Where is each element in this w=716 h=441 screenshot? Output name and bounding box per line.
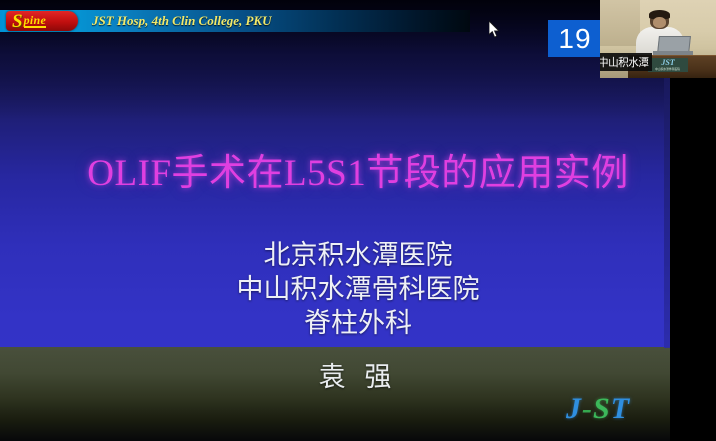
jst-logo: J-ST (566, 392, 658, 426)
jst-logo-dash: - (582, 392, 593, 425)
slide-title: OLIF手术在L5S1节段的应用实例 (0, 142, 716, 196)
jst-logo-s: S (593, 392, 611, 425)
body-line-department: 脊柱外科 (0, 306, 716, 340)
video-caption-bar: 中山积水潭 (600, 53, 652, 71)
slide-header-bar: S pine JST Hosp, 4th Clin College, PKU (0, 10, 470, 32)
video-presenter-face (653, 17, 666, 28)
body-line-hospital-beijing: 北京积水潭医院 (0, 238, 716, 272)
video-podium-sign-logo: JST (661, 59, 674, 67)
body-line-hospital-zhongshan: 中山积水潭骨科医院 (0, 272, 716, 306)
video-caption-text: 中山积水潭 (600, 54, 648, 69)
video-wall-panel (600, 0, 640, 46)
presenter-video-overlay[interactable]: JST 中山积水潭骨科医院 中山积水潭 (600, 0, 716, 78)
jst-logo-j: J (566, 392, 582, 425)
video-podium-sign: JST 中山积水潭骨科医院 (648, 58, 688, 72)
affiliation-text: JST Hosp, 4th Clin College, PKU (92, 13, 272, 29)
slide-body: 北京积水潭医院 中山积水潭骨科医院 脊柱外科 (0, 238, 716, 340)
presenter-name: 袁 强 (0, 355, 716, 394)
spine-logo-s: S (12, 12, 23, 31)
video-podium-sign-subtitle: 中山积水潭骨科医院 (656, 67, 681, 71)
spine-logo-pine: pine (24, 14, 47, 28)
jst-logo-t: T (611, 392, 630, 425)
presentation-screen: S pine JST Hosp, 4th Clin College, PKU 1… (0, 0, 716, 441)
page-number-badge: 19 (548, 20, 602, 57)
page-number-value: 19 (558, 25, 591, 53)
spine-logo: S pine (6, 11, 78, 31)
